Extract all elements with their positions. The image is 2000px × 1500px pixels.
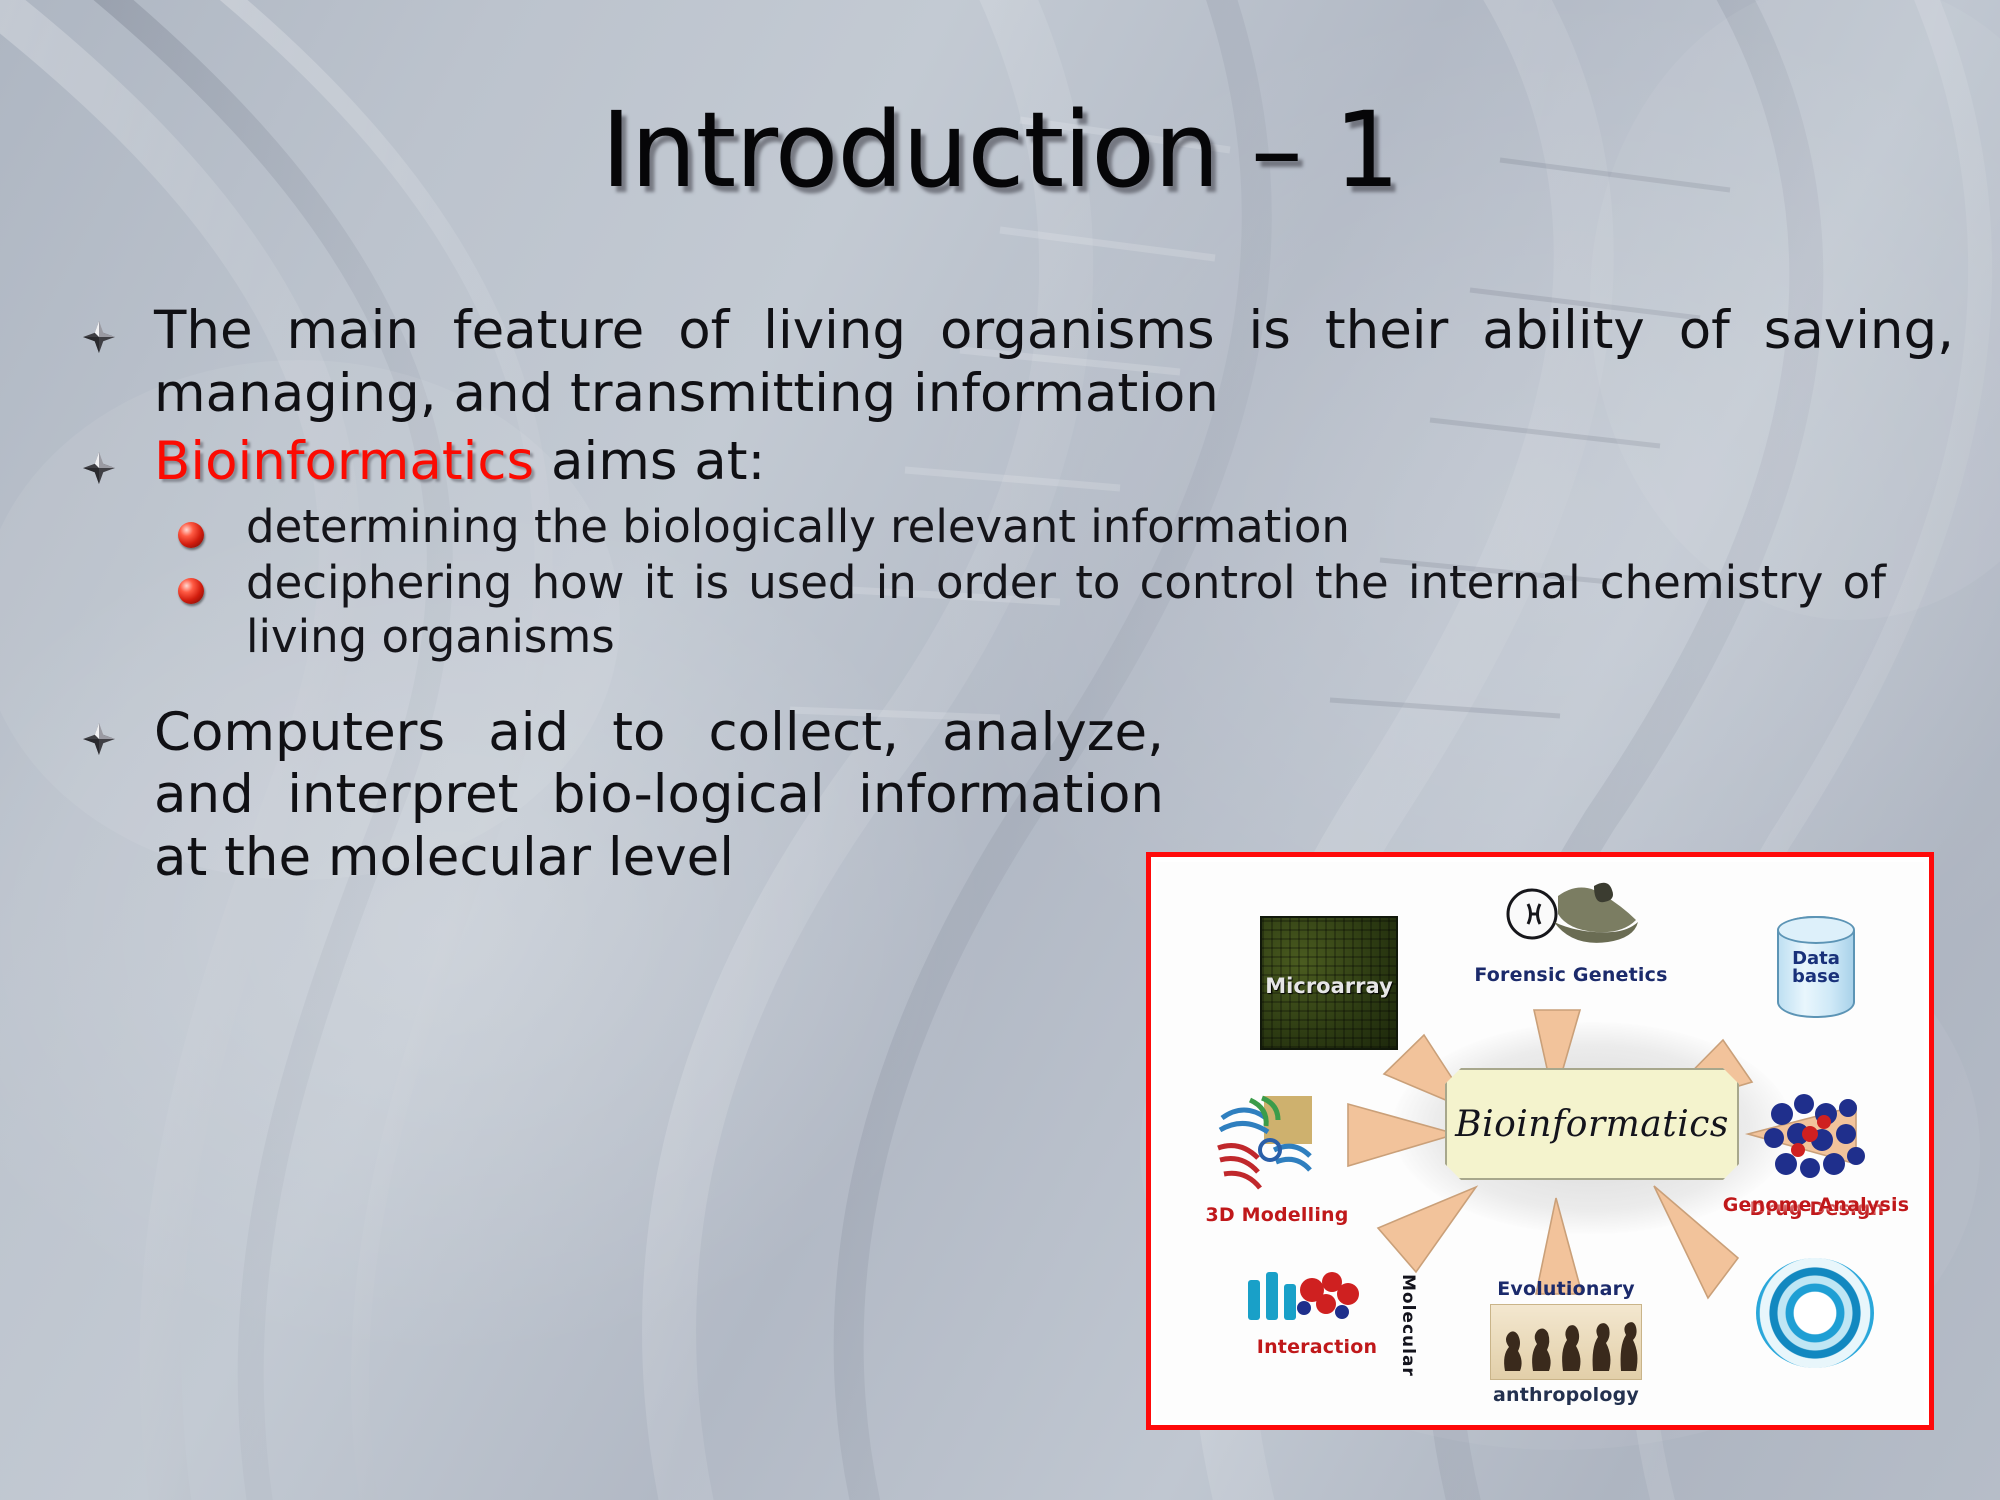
- node-evolutionary-anthropology: Evolutionary anthropology: [1456, 1280, 1676, 1406]
- evolutionary-label: Evolutionary: [1456, 1280, 1676, 1300]
- node-3d-modelling: 3D Modelling: [1182, 1090, 1372, 1226]
- bullet-text: The main feature of living organisms is …: [154, 300, 1954, 425]
- evolution-strip-icon: [1490, 1304, 1642, 1380]
- red-sphere-bullet-icon: [178, 522, 204, 548]
- bullet-level2-item: determining the biologically relevant in…: [74, 500, 1954, 554]
- detective-hat-magnifier-icon: [1498, 880, 1648, 962]
- red-sphere-bullet-icon: [178, 578, 204, 604]
- four-point-star-bullet-icon: [82, 320, 116, 354]
- bullet-text: deciphering how it is used in order to c…: [246, 556, 1886, 663]
- molecular-interaction-icon: [1234, 1264, 1374, 1334]
- cylinder-top-ellipse: [1777, 916, 1855, 944]
- forensic-genetics-label: Forensic Genetics: [1456, 966, 1686, 986]
- molecule-structure-icon: [1752, 1088, 1880, 1196]
- node-molecular-interaction: Interaction Molecular: [1212, 1264, 1422, 1358]
- database-label: Data base: [1779, 950, 1853, 986]
- 3d-modelling-label: 3D Modelling: [1182, 1206, 1372, 1226]
- genome-analysis-label: Genome Analysis: [1716, 1196, 1916, 1216]
- bullet-level1-item: Bioinformatics aims at:: [74, 431, 1954, 494]
- slide-title: Introduction – 1: [0, 96, 2000, 205]
- bullet-level2-item: deciphering how it is used in order to c…: [74, 556, 1886, 664]
- microarray-chip-label: Microarray: [1262, 974, 1396, 998]
- interaction-label: Interaction: [1212, 1338, 1422, 1358]
- molecular-label: Molecular: [1398, 1274, 1418, 1377]
- node-forensic-genetics: Forensic Genetics: [1456, 880, 1686, 986]
- slide-canvas: Introduction – 1 The main feature of liv…: [0, 0, 2000, 1500]
- database-cylinder-icon: Data base: [1777, 916, 1855, 1018]
- highlight-bioinformatics: Bioinformatics: [154, 431, 534, 492]
- bioinformatics-diagram-frame: Microarray Forensic Genetics: [1146, 852, 1934, 1430]
- four-point-star-bullet-icon: [82, 451, 116, 485]
- protein-ribbon-icon: [1204, 1090, 1336, 1202]
- bullet-level1-item: Computers aid to collect, analyze, and i…: [74, 702, 1164, 890]
- hub-label: Bioinformatics: [1455, 1104, 1729, 1145]
- four-point-star-bullet-icon: [82, 722, 116, 756]
- bullet-level1-item: The main feature of living organisms is …: [74, 300, 1954, 425]
- genome-ring-icon: [1756, 1258, 1874, 1368]
- bullet-text: aims at:: [534, 431, 765, 492]
- bullet-text: Computers aid to collect, analyze, and i…: [154, 702, 1164, 890]
- microarray-chip-icon: Microarray: [1260, 916, 1398, 1050]
- hub-bioinformatics: Bioinformatics: [1445, 1068, 1739, 1180]
- human-evolution-silhouettes: [1491, 1305, 1641, 1379]
- slide-body: The main feature of living organisms is …: [74, 300, 1954, 895]
- bullet-text: determining the biologically relevant in…: [246, 500, 1350, 553]
- bioinformatics-hub-diagram: Microarray Forensic Genetics: [1156, 862, 1924, 1420]
- anthropology-label: anthropology: [1456, 1386, 1676, 1406]
